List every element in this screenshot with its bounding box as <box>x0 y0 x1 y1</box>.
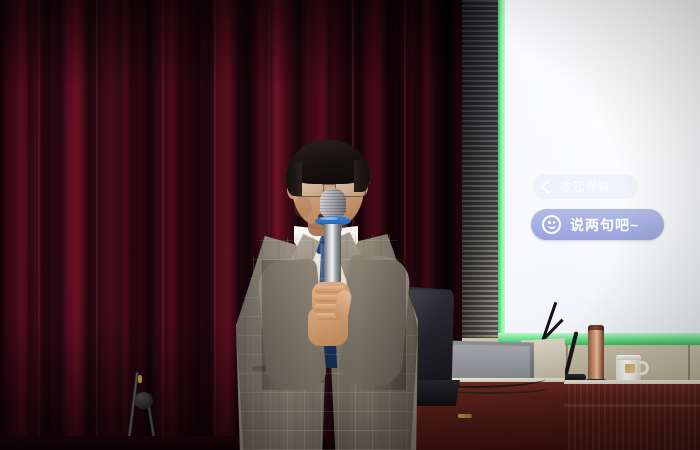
screen-edge-left <box>498 0 505 345</box>
microphone-mesh <box>320 188 346 218</box>
cheek-shading <box>294 196 312 218</box>
copper-thermos <box>588 330 604 384</box>
desk-edge-highlight <box>556 404 700 407</box>
photo-scene: 收起弹幕 说两句吧~ <box>0 0 700 450</box>
hair-side-left <box>286 162 302 196</box>
mic-stand-glint <box>138 375 142 383</box>
desk-keyhole <box>458 414 472 418</box>
hair-side-right <box>354 160 370 192</box>
background-microphone-icon <box>134 392 153 409</box>
desk-wood-grain <box>556 384 700 450</box>
presenter <box>236 140 418 450</box>
collapse-danmaku-pill[interactable]: 收起弹幕 <box>533 174 638 199</box>
mug-logo <box>625 364 635 373</box>
collapse-danmaku-label: 收起弹幕 <box>560 178 610 195</box>
mug-rim <box>616 355 641 360</box>
chevron-left-icon <box>541 179 555 193</box>
curtain-top-shading <box>0 0 470 90</box>
microphone-ring-highlight <box>320 217 338 220</box>
screen-glow <box>505 0 700 338</box>
comment-cta-label: 说两句吧~ <box>570 215 639 235</box>
comment-cta-pill[interactable]: 说两句吧~ <box>531 209 664 240</box>
smiley-face-icon <box>542 215 561 234</box>
